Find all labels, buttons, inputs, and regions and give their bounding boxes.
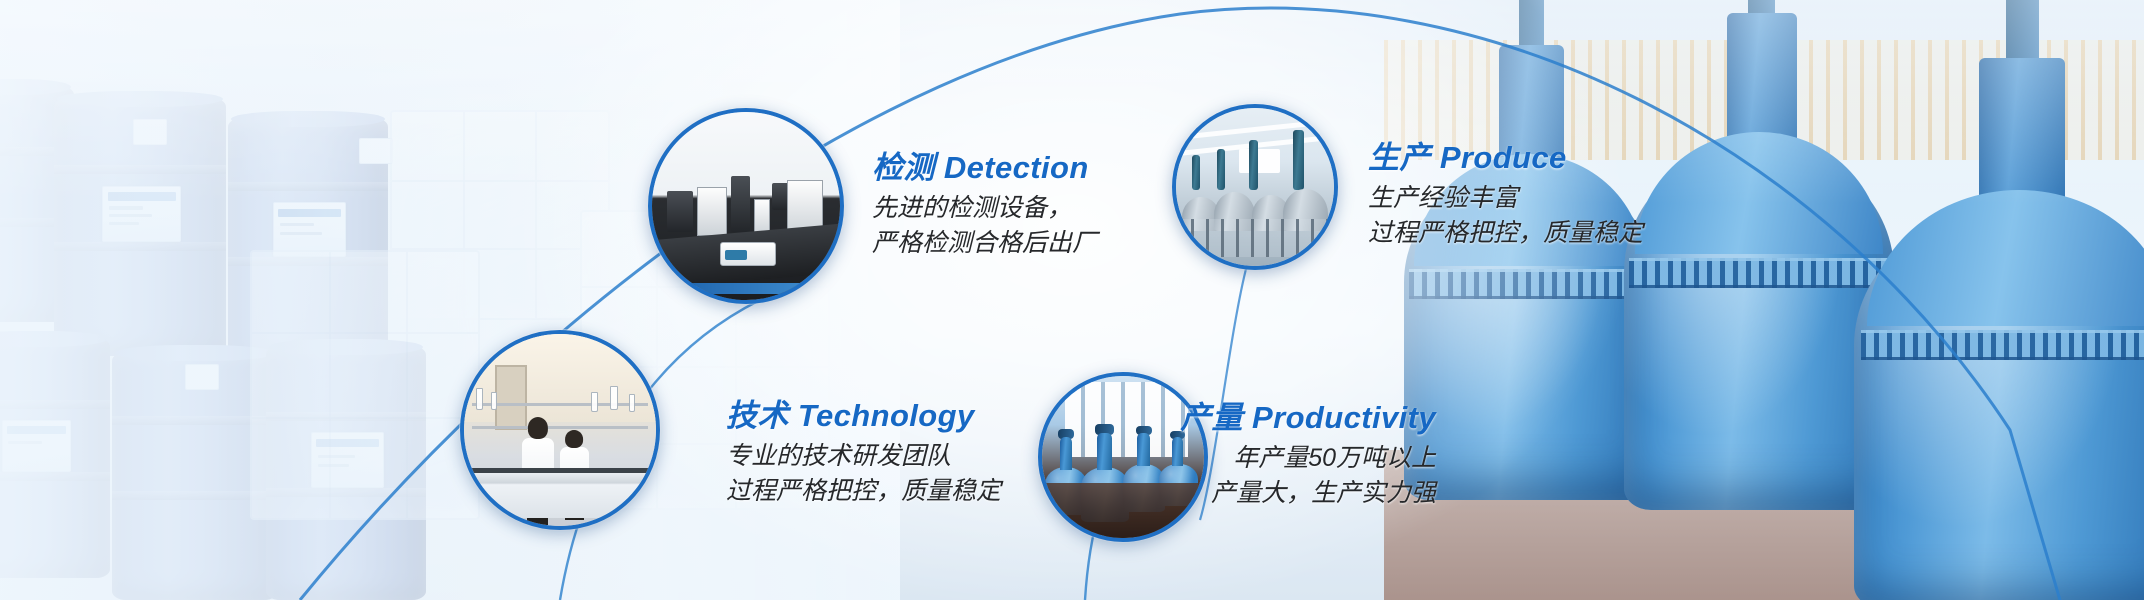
feature-heading-produce: 生产 Produce bbox=[1368, 140, 1643, 176]
feature-line-detection-2: 严格检测合格后出厂 bbox=[872, 226, 1097, 262]
feature-line-produce-2: 过程严格把控，质量稳定 bbox=[1368, 216, 1643, 252]
feature-line-productivity-2: 产量大，生产实力强 bbox=[1000, 476, 1436, 512]
feature-line-detection-1: 先进的检测设备， bbox=[872, 191, 1097, 227]
feature-text-detection: 检测 Detection 先进的检测设备， 严格检测合格后出厂 bbox=[872, 150, 1097, 262]
feature-text-technology: 技术 Technology 专业的技术研发团队 过程严格把控，质量稳定 bbox=[726, 398, 1001, 510]
rd-laboratory-researchers-photo bbox=[464, 334, 656, 526]
feature-line-productivity-1: 年产量50万吨以上 bbox=[1000, 441, 1436, 477]
feature-text-produce: 生产 Produce 生产经验丰富 过程严格把控，质量稳定 bbox=[1368, 140, 1643, 252]
feature-line-produce-1: 生产经验丰富 bbox=[1368, 181, 1643, 217]
production-hall-tanks-photo bbox=[1176, 108, 1334, 266]
feature-line-technology-1: 专业的技术研发团队 bbox=[726, 439, 1001, 475]
feature-photo-detection[interactable] bbox=[648, 108, 844, 304]
feature-text-productivity: 产量 Productivity 年产量50万吨以上 产量大，生产实力强 bbox=[1000, 400, 1436, 512]
feature-heading-productivity: 产量 Productivity bbox=[1000, 400, 1436, 436]
feature-photo-technology[interactable] bbox=[460, 330, 660, 530]
feature-heading-technology: 技术 Technology bbox=[726, 398, 1001, 434]
capability-banner: 检测 Detection 先进的检测设备， 严格检测合格后出厂 生产 Produ… bbox=[0, 0, 2144, 600]
feature-line-technology-2: 过程严格把控，质量稳定 bbox=[726, 474, 1001, 510]
detection-lab-instruments-photo bbox=[652, 112, 840, 300]
feature-photo-produce[interactable] bbox=[1172, 104, 1338, 270]
feature-heading-detection: 检测 Detection bbox=[872, 150, 1097, 186]
